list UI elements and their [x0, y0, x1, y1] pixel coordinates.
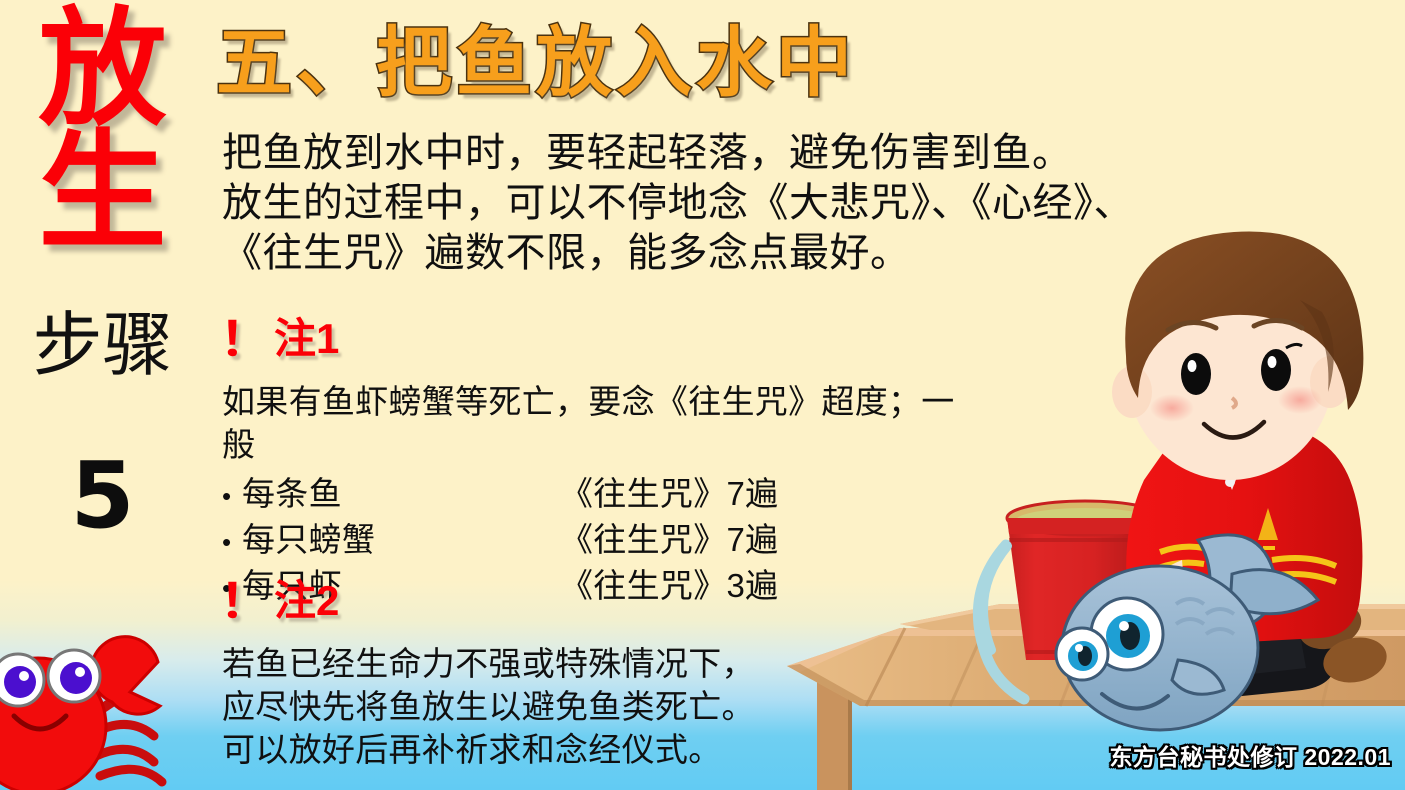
note1-label: 注1	[274, 318, 339, 360]
lead-paragraph: 把鱼放到水中时，要轻起轻落，避免伤害到鱼。 放生的过程中，可以不停地念《大悲咒》…	[222, 128, 1307, 278]
list-item: • 每只螃蟹 《往生咒》7遍	[222, 518, 982, 564]
exclamation-icon: ！	[218, 578, 276, 624]
note1-body: 如果有鱼虾螃蟹等死亡，要念《往生咒》超度；一般 • 每条鱼 《往生咒》7遍 • …	[222, 380, 982, 610]
note1-heading: ！ 注1	[218, 316, 339, 362]
footer-credit: 东方台秘书处修订 2022.01	[1109, 738, 1391, 772]
bullet-item-label: 每只螃蟹	[242, 518, 560, 561]
bullet-item-count: 《往生咒》7遍	[560, 472, 778, 515]
note2-body: 若鱼已经生命力不强或特殊情况下， 应尽快先将鱼放生以避免鱼类死亡。 可以放好后再…	[222, 642, 842, 771]
brand-fangsheng: 放生	[0, 8, 205, 254]
note2-heading: ！ 注2	[218, 578, 339, 624]
note1-intro: 如果有鱼虾螃蟹等死亡，要念《往生咒》超度；一般	[222, 380, 982, 466]
step-label: 步骤	[0, 310, 205, 381]
bullet-item-label: 每条鱼	[242, 472, 560, 515]
page-title: 五、把鱼放入水中	[216, 22, 856, 104]
bullet-dot-icon: •	[222, 475, 242, 518]
poster-canvas: 放生 步骤 5 五、把鱼放入水中 把鱼放到水中时，要轻起轻落，避免伤害到鱼。 放…	[0, 0, 1405, 790]
bullet-item-count: 《往生咒》3遍	[560, 564, 778, 607]
left-sidebar: 放生 步骤 5	[0, 0, 205, 640]
bullet-dot-icon: •	[222, 521, 242, 564]
note2-label: 注2	[274, 580, 339, 622]
step-number: 5	[0, 450, 205, 542]
list-item: • 每条鱼 《往生咒》7遍	[222, 472, 982, 518]
exclamation-icon: ！	[218, 316, 276, 362]
bullet-item-count: 《往生咒》7遍	[560, 518, 778, 561]
